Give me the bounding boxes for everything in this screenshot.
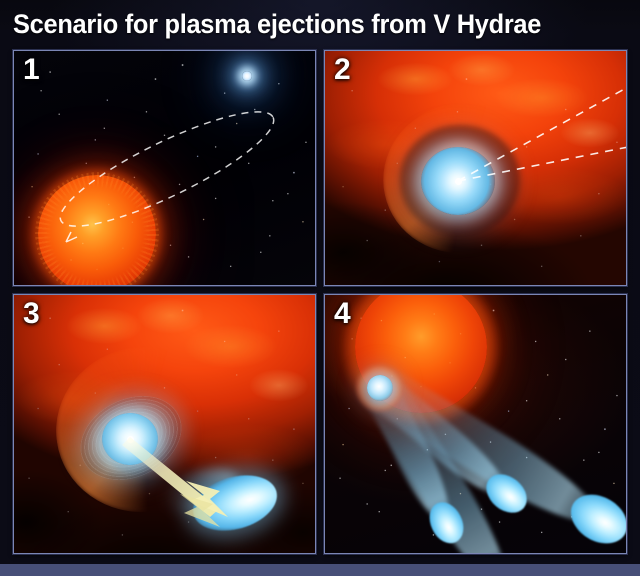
orbit-path-svg	[14, 51, 315, 285]
panel-2-scene	[325, 51, 626, 285]
panel-number: 2	[334, 53, 351, 88]
figure-title: Scenario for plasma ejections from V Hyd…	[13, 9, 541, 40]
figure-root: Scenario for plasma ejections from V Hyd…	[0, 0, 640, 576]
blue-companion-star	[367, 375, 393, 401]
panel-3-scene	[14, 295, 315, 553]
panel-number: 4	[334, 297, 351, 332]
panel-grid: 1 2	[13, 50, 627, 554]
orbit-direction-arrowhead	[66, 232, 77, 242]
panel-1-scene	[14, 51, 315, 285]
figure-header: Scenario for plasma ejections from V Hyd…	[0, 0, 640, 48]
ejection-arrow-svg	[14, 295, 315, 553]
panel-2[interactable]: 2	[324, 50, 627, 286]
panel-number: 3	[23, 297, 40, 332]
orbit-track-svg	[325, 51, 626, 285]
panel-1[interactable]: 1	[13, 50, 316, 286]
panel-3[interactable]: 3	[13, 294, 316, 554]
dashed-orbit-ellipse	[49, 93, 285, 245]
panel-4-scene	[325, 295, 626, 553]
panel-number: 1	[23, 53, 40, 88]
figure-footer-bar	[0, 564, 640, 576]
orbit-dash-lower	[458, 147, 626, 181]
panel-4[interactable]: 4	[324, 294, 627, 554]
orbit-dash-upper	[458, 87, 626, 181]
